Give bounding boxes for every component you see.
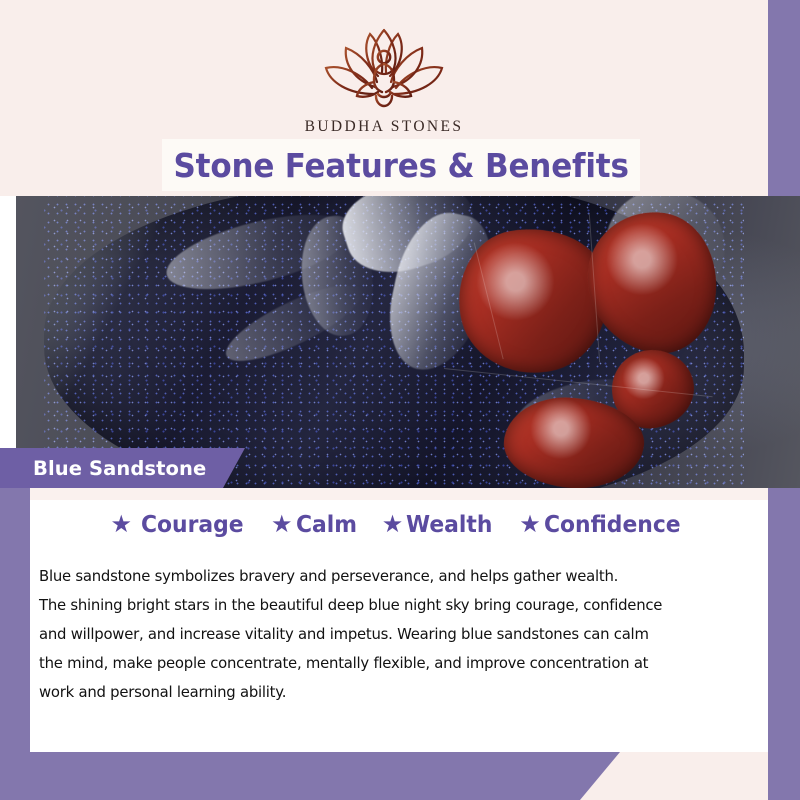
- brand-name: BUDDHA STONES: [0, 118, 768, 136]
- page-title-band: Stone Features & Benefits: [162, 139, 640, 191]
- description-line: Blue sandstone symbolizes bravery and pe…: [39, 562, 740, 591]
- panel-top-tint: [30, 488, 768, 500]
- description-line: the mind, make people concentrate, menta…: [39, 649, 740, 678]
- feature-item-confidence: ★ Confidence: [519, 512, 687, 538]
- poster-root: BUDDHA STONES Stone Features & Benefits …: [0, 0, 800, 800]
- bottom-left-purple-band: [0, 752, 620, 800]
- hero-stone-shape: [44, 196, 744, 488]
- feature-item-wealth: ★ Wealth: [382, 512, 497, 538]
- description-line: The shining bright stars in the beautifu…: [39, 591, 740, 620]
- star-icon: ★: [519, 513, 541, 537]
- star-icon: ★: [111, 513, 133, 537]
- content-panel: ★ Courage ★ Calm ★ Wealth ★ Confidence B…: [30, 488, 768, 752]
- hero-image: [16, 196, 800, 488]
- feature-label: Courage: [141, 512, 244, 538]
- description-line: work and personal learning ability.: [39, 678, 740, 707]
- feature-label: Calm: [296, 512, 357, 538]
- lotus-meditation-icon: [320, 24, 448, 116]
- description-text: Blue sandstone symbolizes bravery and pe…: [39, 562, 740, 707]
- stone-name-banner: Blue Sandstone: [0, 448, 245, 488]
- stone-name-label: Blue Sandstone: [0, 457, 206, 480]
- feature-item-calm: ★ Calm: [271, 512, 360, 538]
- feature-list: ★ Courage ★ Calm ★ Wealth ★ Confidence: [30, 512, 768, 538]
- feature-label: Wealth: [406, 512, 492, 538]
- brand-logo: BUDDHA STONES: [0, 24, 768, 136]
- description-line: and willpower, and increase vitality and…: [39, 620, 740, 649]
- star-icon: ★: [271, 513, 293, 537]
- feature-label: Confidence: [544, 512, 681, 538]
- right-edge-purple-top: [768, 0, 800, 46]
- star-icon: ★: [382, 513, 404, 537]
- page-title: Stone Features & Benefits: [173, 146, 628, 185]
- feature-item-courage: ★ Courage: [111, 512, 250, 538]
